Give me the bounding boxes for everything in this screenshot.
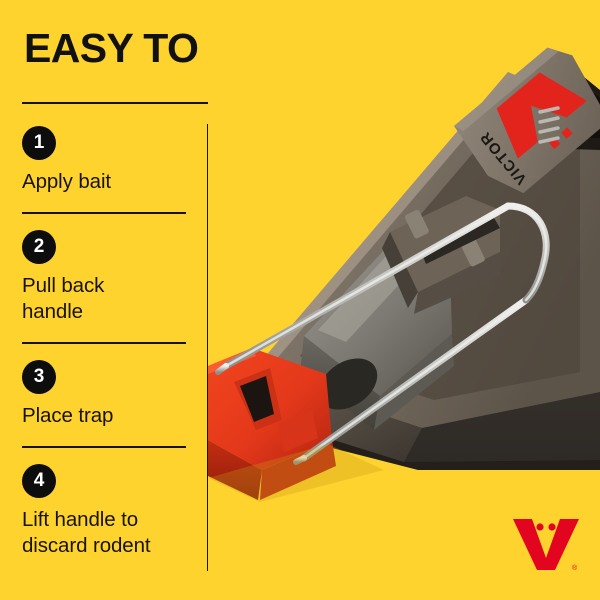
registered-mark: ®	[572, 564, 578, 572]
step-number-badge-3: 3	[22, 360, 56, 394]
step-item-3: 3 Place trap	[22, 360, 190, 429]
step-divider-3	[22, 446, 186, 448]
step-item-1: 1 Apply bait	[22, 126, 190, 195]
step-divider-1	[22, 212, 186, 214]
step-number-badge-4: 4	[22, 464, 56, 498]
step-divider-2	[22, 342, 186, 344]
step-label-2: Pull back handle	[22, 273, 190, 325]
step-label-4: Lift handle to discard rodent	[22, 507, 190, 559]
step-number-badge-2: 2	[22, 230, 56, 264]
step-item-2: 2 Pull back handle	[22, 230, 190, 325]
victor-v-letterform: ®	[513, 519, 579, 572]
step-number-badge-1: 1	[22, 126, 56, 160]
step-item-4: 4 Lift handle to discard rodent	[22, 464, 190, 559]
victor-v-logo: ®	[511, 508, 581, 574]
step-label-3: Place trap	[22, 403, 190, 429]
step-label-1: Apply bait	[22, 169, 190, 195]
easy-to-use-instruction-card: EASY TO USE 1 Apply bait 2 Pull back han…	[0, 0, 600, 600]
